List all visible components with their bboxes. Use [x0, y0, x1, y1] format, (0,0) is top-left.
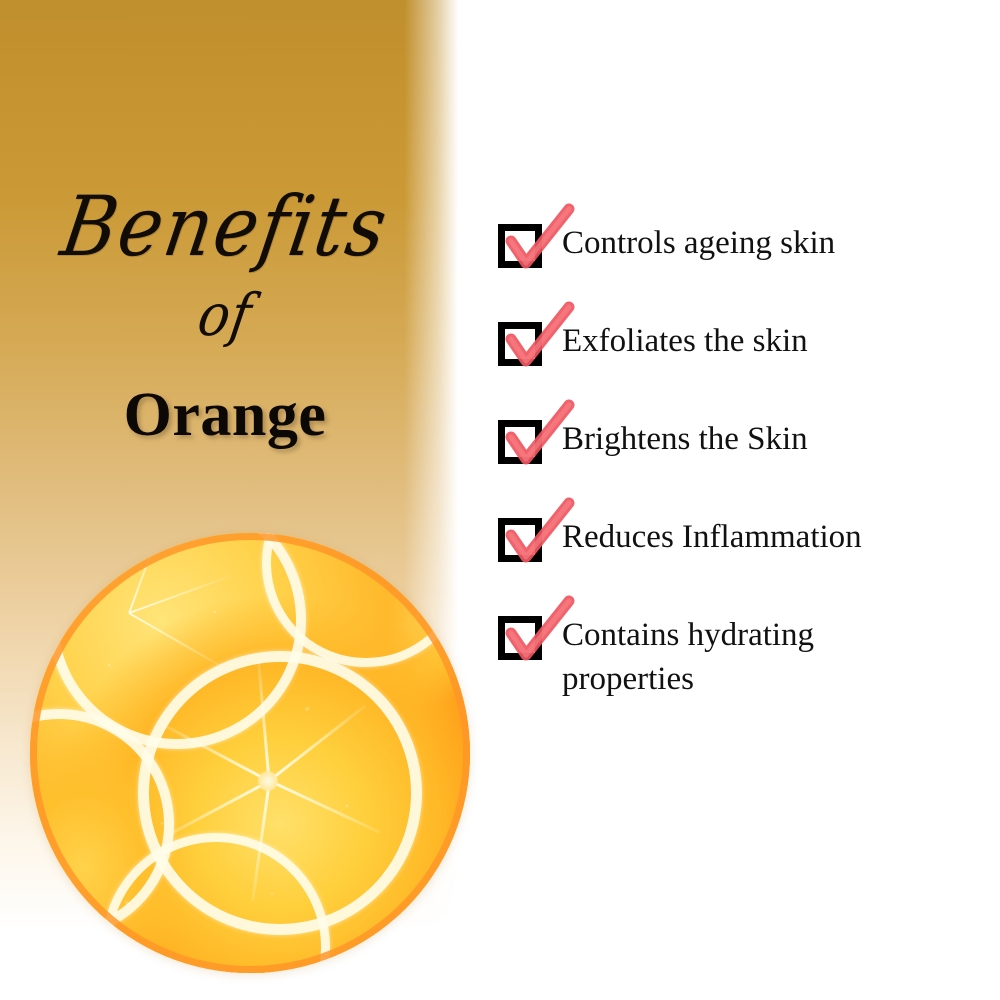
checkbox-checked-icon[interactable] [498, 518, 542, 562]
orange-slices-image [30, 533, 470, 973]
list-item[interactable]: Exfoliates the skin [498, 314, 968, 366]
headline-of: of [0, 287, 455, 345]
checkbox-checked-icon[interactable] [498, 616, 542, 660]
headline-orange: Orange [0, 384, 450, 446]
list-item[interactable]: Controls ageing skin [498, 216, 968, 268]
list-item-label: Brightens the Skin [542, 412, 808, 462]
list-item-label: Reduces Inflammation [542, 510, 862, 560]
headline-block: Benefits of Orange [0, 190, 450, 446]
list-item[interactable]: Brightens the Skin [498, 412, 968, 464]
benefits-of-orange-poster: Benefits of Orange [0, 0, 1000, 1000]
benefits-checklist: Controls ageing skin Exfoliates the skin… [498, 216, 968, 701]
checkbox-checked-icon[interactable] [498, 224, 542, 268]
list-item-label: Exfoliates the skin [542, 314, 808, 364]
list-item[interactable]: Contains hydrating properties [498, 608, 968, 701]
list-item-label: Controls ageing skin [542, 216, 835, 266]
list-item-label: Contains hydrating properties [542, 608, 814, 701]
list-item[interactable]: Reduces Inflammation [498, 510, 968, 562]
checkbox-checked-icon[interactable] [498, 420, 542, 464]
headline-benefits: Benefits [0, 186, 457, 269]
orange-peel-ring [30, 533, 470, 973]
checkbox-checked-icon[interactable] [498, 322, 542, 366]
